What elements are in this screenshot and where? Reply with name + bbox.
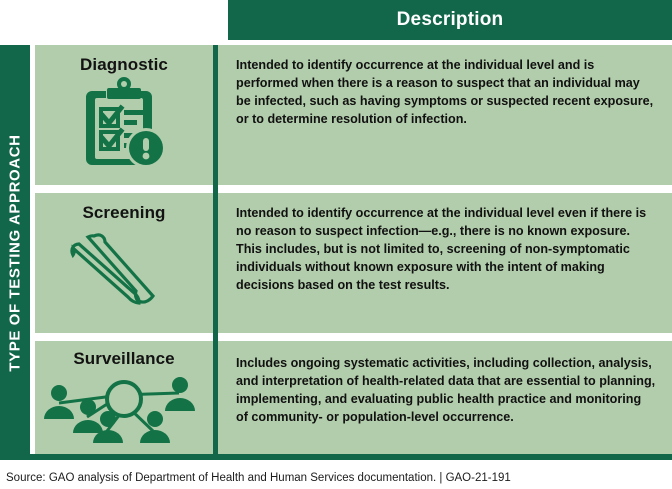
row-description-text: Intended to identify occurrence at the i… — [236, 57, 656, 129]
people-network-icon — [35, 369, 213, 443]
row-description-cell-surveillance: Includes ongoing systematic activities, … — [218, 341, 672, 454]
row-label-cell-diagnostic: Diagnostic — [35, 45, 213, 185]
crossed-swabs-icon — [35, 227, 213, 313]
type-of-testing-approach-axis: TYPE OF TESTING APPROACH — [0, 45, 30, 460]
axis-label-text: TYPE OF TESTING APPROACH — [7, 134, 24, 371]
clipboard-checklist-alert-icon — [35, 77, 213, 169]
row-description-cell-diagnostic: Intended to identify occurrence at the i… — [218, 45, 672, 185]
row-title: Diagnostic — [35, 45, 213, 75]
source-footer: Source: GAO analysis of Department of He… — [0, 466, 672, 489]
column-divider — [213, 45, 218, 460]
row-description-text: Includes ongoing systematic activities, … — [236, 355, 656, 427]
description-header-label: Description — [397, 9, 504, 31]
testing-approach-panel: TYPE OF TESTING APPROACH Diagnostic — [0, 45, 672, 460]
description-header-banner: Description — [228, 0, 672, 40]
row-description-cell-screening: Intended to identify occurrence at the i… — [218, 193, 672, 333]
row-description-text: Intended to identify occurrence at the i… — [236, 205, 656, 294]
row-label-cell-screening: Screening — [35, 193, 213, 333]
panel-bottom-border — [0, 454, 672, 460]
infographic-canvas: Description TYPE OF TESTING APPROACH Dia… — [0, 0, 672, 489]
row-title: Screening — [35, 193, 213, 223]
source-text: Source: GAO analysis of Department of He… — [0, 472, 511, 484]
row-title: Surveillance — [35, 341, 213, 369]
row-label-cell-surveillance: Surveillance — [35, 341, 213, 454]
